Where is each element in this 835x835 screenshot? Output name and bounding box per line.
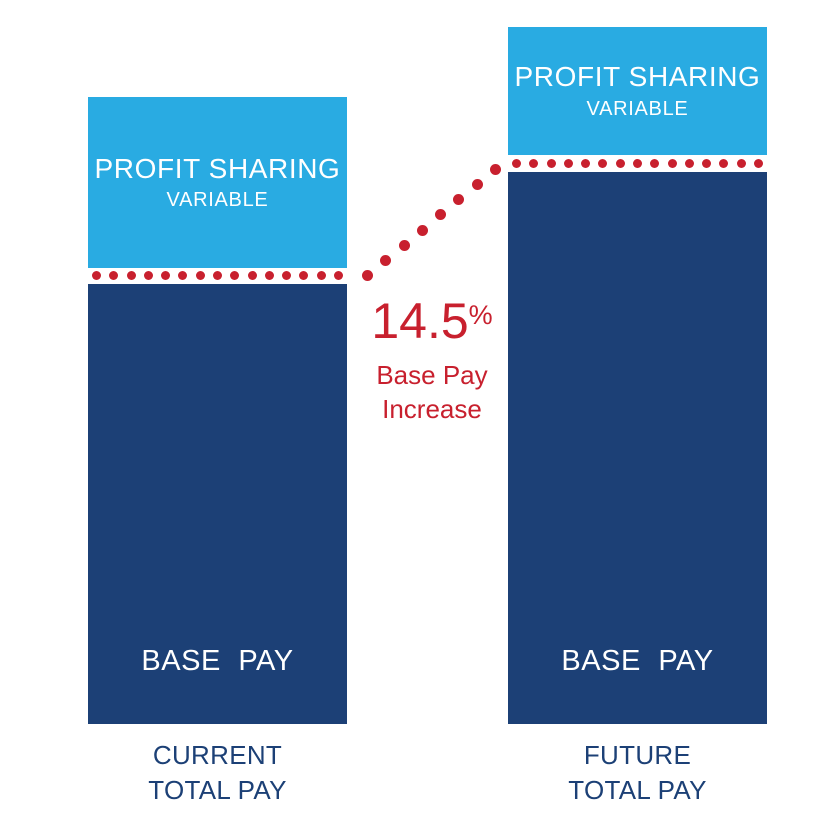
annotation-line-2: Increase — [352, 392, 512, 426]
divider-dot — [230, 271, 239, 280]
connector-dot — [380, 255, 391, 266]
connector-dot — [453, 194, 464, 205]
bar-segment-current-base-pay: BASE PAY — [88, 284, 347, 724]
base-pay-increase-annotation: 14.5% Base Pay Increase — [352, 296, 512, 427]
category-label-future: FUTURE TOTAL PAY — [508, 738, 767, 808]
dotted-connector-line — [352, 158, 512, 283]
segment-label-base-pay: BASE PAY — [88, 645, 347, 678]
dotted-divider-future — [512, 158, 763, 169]
connector-dot — [417, 225, 428, 236]
category-label-current-line2: TOTAL PAY — [88, 773, 347, 808]
divider-dot — [299, 271, 308, 280]
divider-dot — [754, 159, 763, 168]
divider-dot — [719, 159, 728, 168]
divider-dot — [685, 159, 694, 168]
divider-dot — [282, 271, 291, 280]
divider-dot — [178, 271, 187, 280]
divider-dot — [127, 271, 136, 280]
divider-dot — [265, 271, 274, 280]
connector-dot — [490, 164, 501, 175]
annotation-percent-sign: % — [469, 300, 493, 330]
divider-dot — [737, 159, 746, 168]
divider-dot — [547, 159, 556, 168]
divider-dot — [650, 159, 659, 168]
divider-dot — [668, 159, 677, 168]
annotation-number: 14.5 — [371, 293, 468, 349]
divider-dot — [161, 271, 170, 280]
segment-label-base-pay: BASE PAY — [508, 645, 767, 678]
divider-dot — [529, 159, 538, 168]
divider-dot — [633, 159, 642, 168]
bar-segment-future-base-pay: BASE PAY — [508, 172, 767, 724]
divider-dot — [196, 271, 205, 280]
divider-dot — [564, 159, 573, 168]
divider-dot — [581, 159, 590, 168]
segment-subtitle-variable: VARIABLE — [167, 190, 269, 211]
connector-dot — [399, 240, 410, 251]
annotation-line-1: Base Pay — [352, 358, 512, 392]
segment-subtitle-variable: VARIABLE — [587, 99, 689, 120]
divider-dot — [109, 271, 118, 280]
category-label-future-line2: TOTAL PAY — [508, 773, 767, 808]
divider-dot — [598, 159, 607, 168]
divider-dot — [92, 271, 101, 280]
divider-dot — [213, 271, 222, 280]
divider-dot — [702, 159, 711, 168]
divider-dot — [334, 271, 343, 280]
annotation-percent-value: 14.5% — [352, 296, 512, 346]
divider-dot — [616, 159, 625, 168]
divider-dot — [144, 271, 153, 280]
stacked-pay-comparison-chart: PROFIT SHARING VARIABLE BASE PAY PROFIT … — [0, 0, 835, 835]
category-label-current-line1: CURRENT — [88, 738, 347, 773]
divider-dot — [248, 271, 257, 280]
divider-dot — [317, 271, 326, 280]
divider-dot — [512, 159, 521, 168]
connector-dot — [472, 179, 483, 190]
connector-dot — [435, 209, 446, 220]
connector-dot — [362, 270, 373, 281]
category-label-future-line1: FUTURE — [508, 738, 767, 773]
bar-segment-future-profit-sharing: PROFIT SHARING VARIABLE — [508, 27, 767, 155]
dotted-divider-current — [92, 270, 343, 281]
segment-title-profit-sharing: PROFIT SHARING — [95, 154, 341, 183]
segment-title-profit-sharing: PROFIT SHARING — [515, 62, 761, 91]
bar-segment-current-profit-sharing: PROFIT SHARING VARIABLE — [88, 97, 347, 268]
category-label-current: CURRENT TOTAL PAY — [88, 738, 347, 808]
